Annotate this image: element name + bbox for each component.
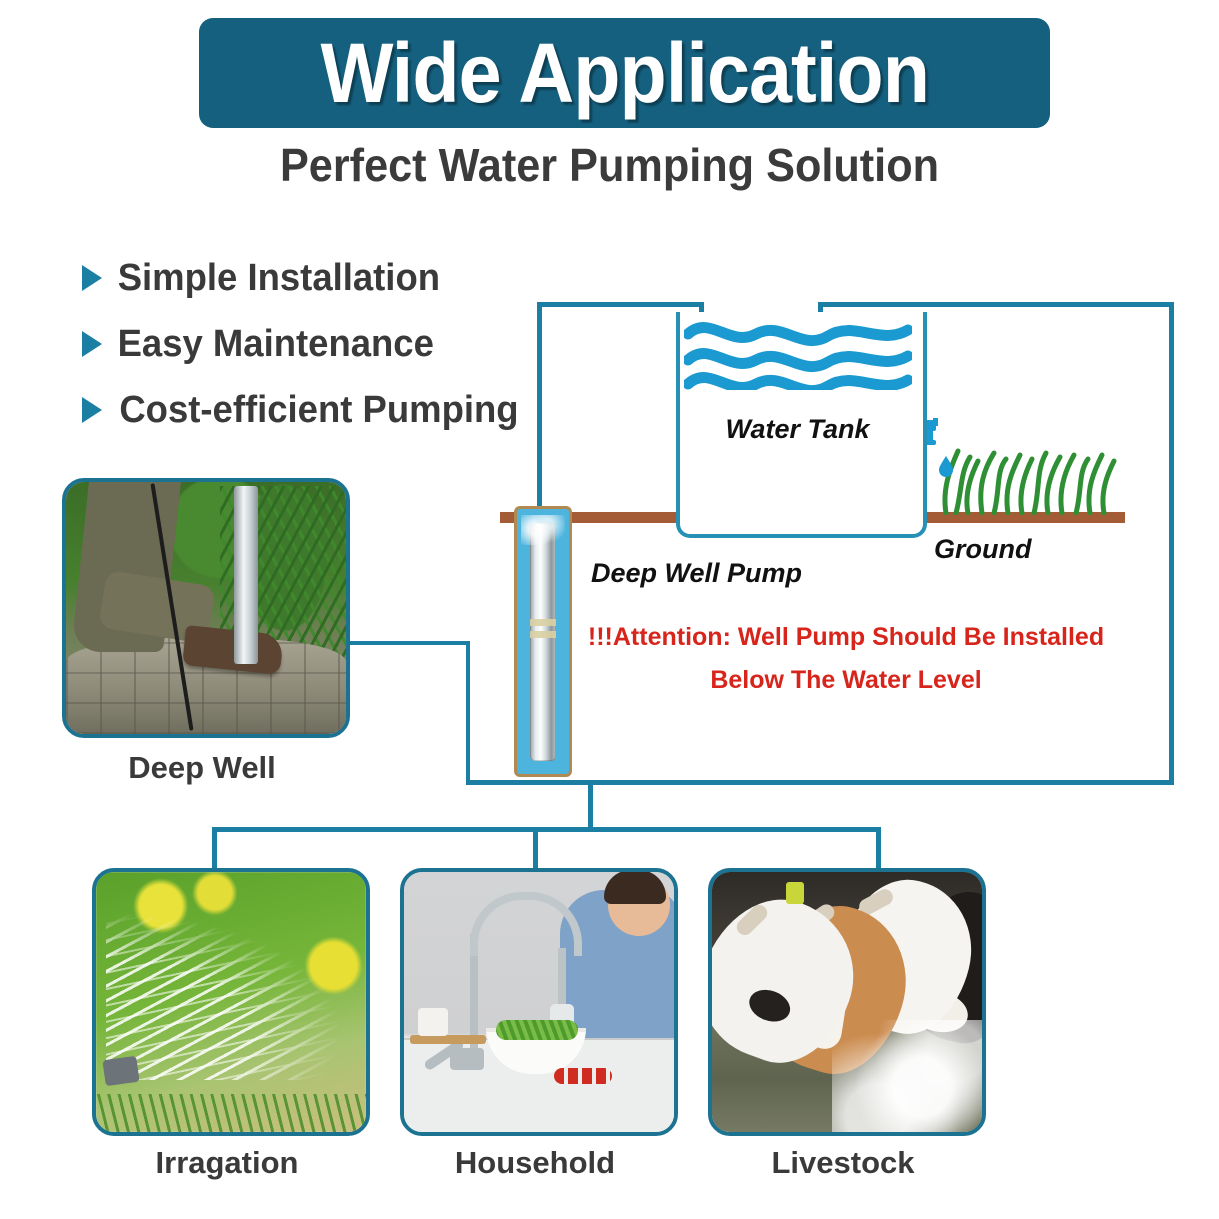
- livestock-caption: Livestock: [708, 1145, 978, 1181]
- connector-bottom-return-horizontal: [588, 780, 1174, 785]
- header-banner: Wide Application: [199, 18, 1050, 128]
- cup: [418, 1008, 448, 1036]
- ground-label: Ground: [934, 534, 1031, 565]
- connector-tree-branch-household: [533, 827, 538, 869]
- water-splash-icon: [521, 515, 565, 545]
- water-spray: [106, 910, 370, 1080]
- feature-label: Simple Installation: [118, 257, 440, 300]
- connector-tree-branch-irrigation: [212, 827, 217, 869]
- connector-tree-stem: [588, 780, 593, 830]
- feature-list: Simple Installation Easy Maintenance Cos…: [82, 245, 527, 443]
- infographic-root: Wide Application Perfect Water Pumping S…: [0, 0, 1219, 1219]
- feature-label: Easy Maintenance: [118, 323, 434, 366]
- grass-illustration: [938, 443, 1118, 515]
- connector-tree-branch-livestock: [876, 827, 881, 869]
- water-drop-icon: [938, 455, 954, 477]
- water-splash: [832, 1020, 982, 1132]
- connector-deepwell-join-horizontal: [466, 780, 592, 785]
- feature-item: Cost-efficient Pumping: [82, 377, 527, 443]
- irrigation-caption: Irragation: [92, 1145, 362, 1181]
- header-subtitle: Perfect Water Pumping Solution: [37, 138, 1183, 192]
- deep-well-photo: [62, 478, 350, 738]
- green-vegetables: [496, 1020, 578, 1040]
- feature-item: Simple Installation: [82, 245, 527, 311]
- connector-pump-to-tank-horizontal: [537, 302, 704, 307]
- connector-tank-to-right-horizontal: [818, 302, 1174, 307]
- pump-pipe: [234, 486, 258, 664]
- triangle-right-icon: [82, 397, 102, 423]
- submersible-pump-illustration: [530, 523, 556, 761]
- cutting-board: [410, 1035, 486, 1044]
- cow-ear-tag: [786, 882, 804, 904]
- deep-well-pump-label: Deep Well Pump: [591, 558, 802, 589]
- water-wave-icon: [684, 318, 912, 390]
- connector-right-edge-vertical: [1169, 302, 1174, 785]
- feature-label: Cost-efficient Pumping: [119, 389, 518, 432]
- sprinkler-head: [102, 1056, 139, 1086]
- household-caption: Household: [400, 1145, 670, 1181]
- grass-foreground: [96, 1094, 366, 1132]
- faucet-downspout: [558, 948, 566, 1010]
- connector-pump-riser-vertical: [537, 302, 542, 508]
- attention-line-2: Below The Water Level: [566, 659, 1126, 702]
- attention-notice: !!!Attention: Well Pump Should Be Instal…: [566, 616, 1126, 702]
- irrigation-photo: [92, 868, 370, 1136]
- attention-line-1: !!!Attention: Well Pump Should Be Instal…: [566, 616, 1126, 659]
- deep-well-shaft: [514, 506, 572, 777]
- triangle-right-icon: [82, 331, 102, 357]
- livestock-photo: [708, 868, 986, 1136]
- faucet-base: [450, 1048, 484, 1070]
- triangle-right-icon: [82, 265, 102, 291]
- connector-deepwell-horizontal: [342, 641, 470, 645]
- water-tank-label: Water Tank: [676, 414, 919, 445]
- connector-deepwell-vertical: [466, 641, 470, 784]
- connector-tree-bar: [212, 827, 881, 832]
- household-photo: [400, 868, 678, 1136]
- deep-well-caption: Deep Well: [62, 750, 342, 786]
- feature-item: Easy Maintenance: [82, 311, 527, 377]
- banner-title: Wide Application: [320, 31, 929, 115]
- tomatoes: [554, 1068, 612, 1084]
